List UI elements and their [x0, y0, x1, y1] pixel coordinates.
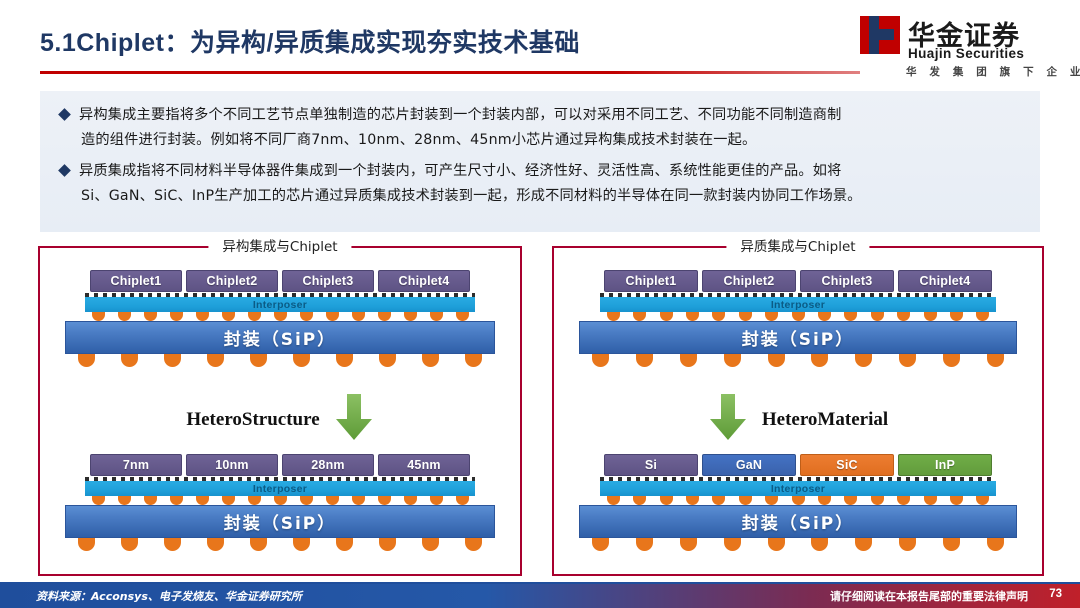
- solder-ball-icon: [768, 354, 785, 367]
- sip-package-block: 封装（SiP）: [65, 321, 495, 354]
- solder-ball-icon: [144, 496, 157, 505]
- solder-ball-icon: [660, 312, 673, 321]
- interposer-layer: Interposer: [85, 297, 475, 312]
- solder-ball-icon: [855, 538, 872, 551]
- solder-ball-icon: [456, 312, 469, 321]
- bullet-line: 造的组件进行封装。例如将不同厂商7nm、10nm、28nm、45nm小芯片通过异…: [79, 128, 842, 153]
- slide: 5.1Chiplet：为异构/异质集成实现夯实技术基础 华金证券 Huajin …: [0, 0, 1080, 608]
- chip-block[interactable]: 7nm: [90, 454, 182, 476]
- solder-ball-icon: [943, 354, 960, 367]
- bullet-item: 异构集成主要指将多个不同工艺节点单独制造的芯片封装到一个封装内部，可以对采用不同…: [54, 103, 1026, 153]
- solder-ball-icon: [818, 496, 831, 505]
- solder-ball-icon: [92, 312, 105, 321]
- solder-ball-icon: [326, 496, 339, 505]
- chip-row: Chiplet1Chiplet2Chiplet3Chiplet4: [554, 270, 1042, 292]
- sip-package-block: 封装（SiP）: [579, 321, 1017, 354]
- solder-ball-icon: [592, 354, 609, 367]
- chip-block[interactable]: InP: [898, 454, 992, 476]
- solder-ball-icon: [633, 496, 646, 505]
- solder-ball-icon: [248, 312, 261, 321]
- solder-ball-icon: [465, 354, 482, 367]
- chip-block[interactable]: 10nm: [186, 454, 278, 476]
- solder-ball-icon: [274, 496, 287, 505]
- chip-block[interactable]: 28nm: [282, 454, 374, 476]
- solder-ball-icon: [378, 496, 391, 505]
- diamond-bullet-icon: [58, 108, 71, 121]
- solder-ball-icon: [987, 354, 1004, 367]
- solder-ball-icon: [950, 312, 963, 321]
- solder-ball-icon: [987, 538, 1004, 551]
- logo-name-en: Huajin Securities: [908, 46, 1024, 61]
- solder-ball-icon: [379, 538, 396, 551]
- solder-ball-row: [85, 496, 475, 505]
- diagram-stack-top: Chiplet1Chiplet2Chiplet3Chiplet4Interpos…: [554, 270, 1042, 367]
- solder-ball-icon: [897, 312, 910, 321]
- solder-ball-icon: [121, 354, 138, 367]
- bullet-text: 异构集成主要指将多个不同工艺节点单独制造的芯片封装到一个封装内部，可以对采用不同…: [79, 103, 842, 153]
- solder-ball-icon: [250, 538, 267, 551]
- bullet-item: 异质集成指将不同材料半导体器件集成到一个封装内，可产生尺寸小、经济性好、灵活性高…: [54, 159, 1026, 209]
- solder-ball-row: [579, 538, 1017, 551]
- solder-ball-icon: [378, 312, 391, 321]
- solder-ball-icon: [404, 496, 417, 505]
- solder-ball-icon: [636, 354, 653, 367]
- solder-ball-icon: [739, 496, 752, 505]
- solder-ball-icon: [456, 496, 469, 505]
- chip-row: Chiplet1Chiplet2Chiplet3Chiplet4: [40, 270, 520, 292]
- solder-ball-icon: [248, 496, 261, 505]
- arrow-down-icon: [334, 392, 374, 447]
- chip-block[interactable]: Chiplet2: [186, 270, 278, 292]
- solder-ball-icon: [607, 312, 620, 321]
- solder-ball-icon: [170, 312, 183, 321]
- solder-ball-icon: [164, 538, 181, 551]
- solder-ball-icon: [607, 496, 620, 505]
- solder-ball-row: [600, 496, 996, 505]
- solder-ball-icon: [92, 496, 105, 505]
- solder-ball-icon: [924, 496, 937, 505]
- chip-block[interactable]: Chiplet3: [800, 270, 894, 292]
- chip-row: SiGaNSiCInP: [554, 454, 1042, 476]
- footer-notice: 请仔细阅读在本报告尾部的重要法律声明: [830, 588, 1028, 604]
- chip-block[interactable]: SiC: [800, 454, 894, 476]
- chip-block[interactable]: Chiplet4: [378, 270, 470, 292]
- footer-bar: 资料来源：Acconsys、电子发烧友、华金证券研究所 请仔细阅读在本报告尾部的…: [0, 584, 1080, 608]
- chip-block[interactable]: 45nm: [378, 454, 470, 476]
- solder-ball-icon: [422, 538, 439, 551]
- solder-ball-icon: [686, 312, 699, 321]
- solder-ball-icon: [897, 496, 910, 505]
- solder-ball-icon: [326, 312, 339, 321]
- transition-label: HeteroStructure: [186, 409, 319, 431]
- solder-ball-icon: [765, 312, 778, 321]
- solder-ball-icon: [592, 538, 609, 551]
- solder-ball-icon: [633, 312, 646, 321]
- solder-ball-icon: [78, 538, 95, 551]
- bullet-text: 异质集成指将不同材料半导体器件集成到一个封装内，可产生尺寸小、经济性好、灵活性高…: [79, 159, 862, 209]
- solder-ball-icon: [207, 538, 224, 551]
- solder-ball-icon: [250, 354, 267, 367]
- solder-ball-icon: [196, 312, 209, 321]
- solder-ball-icon: [943, 538, 960, 551]
- solder-ball-icon: [680, 354, 697, 367]
- solder-ball-icon: [712, 496, 725, 505]
- solder-ball-row: [65, 538, 495, 551]
- solder-ball-icon: [871, 312, 884, 321]
- solder-ball-icon: [121, 538, 138, 551]
- bullet-line: Si、GaN、SiC、InP生产加工的芯片通过异质集成技术封装到一起，形成不同材…: [79, 184, 862, 209]
- transition-row: HeteroStructure: [40, 392, 520, 447]
- solder-ball-icon: [336, 538, 353, 551]
- page-title: 5.1Chiplet：为异构/异质集成实现夯实技术基础: [40, 23, 580, 59]
- solder-ball-icon: [379, 354, 396, 367]
- diagram-stack-bottom: SiGaNSiCInPInterposer封装（SiP）: [554, 454, 1042, 551]
- solder-ball-icon: [352, 312, 365, 321]
- solder-ball-row: [85, 312, 475, 321]
- solder-ball-icon: [300, 496, 313, 505]
- bullet-line: 异构集成主要指将多个不同工艺节点单独制造的芯片封装到一个封装内部，可以对采用不同…: [79, 103, 842, 128]
- footer-source: 资料来源：Acconsys、电子发烧友、华金证券研究所: [36, 588, 302, 604]
- interposer-layer: Interposer: [600, 481, 996, 496]
- solder-ball-icon: [844, 496, 857, 505]
- chip-block[interactable]: Chiplet1: [604, 270, 698, 292]
- solder-ball-icon: [792, 312, 805, 321]
- bullet-panel: 异构集成主要指将多个不同工艺节点单独制造的芯片封装到一个封装内部，可以对采用不同…: [40, 91, 1040, 232]
- chip-block[interactable]: Chiplet4: [898, 270, 992, 292]
- interposer-layer: Interposer: [85, 481, 475, 496]
- bullet-line: 异质集成指将不同材料半导体器件集成到一个封装内，可产生尺寸小、经济性好、灵活性高…: [79, 159, 862, 184]
- arrow-down-icon: [708, 392, 748, 447]
- chip-block[interactable]: Si: [604, 454, 698, 476]
- chip-row: 7nm10nm28nm45nm: [40, 454, 520, 476]
- solder-ball-icon: [352, 496, 365, 505]
- solder-ball-icon: [811, 354, 828, 367]
- solder-ball-row: [65, 354, 495, 367]
- solder-ball-icon: [78, 354, 95, 367]
- solder-ball-icon: [196, 496, 209, 505]
- solder-ball-icon: [293, 354, 310, 367]
- solder-ball-icon: [636, 538, 653, 551]
- diagram-panel-heterostructure: 异构集成与Chiplet Chiplet1Chiplet2Chiplet3Chi…: [38, 246, 522, 576]
- solder-ball-icon: [739, 312, 752, 321]
- solder-ball-icon: [660, 496, 673, 505]
- diagram-stack-top: Chiplet1Chiplet2Chiplet3Chiplet4Interpos…: [40, 270, 520, 367]
- solder-ball-icon: [712, 312, 725, 321]
- transition-row: HeteroMaterial: [554, 392, 1042, 447]
- company-logo: 华金证券 Huajin Securities 华 发 集 团 旗 下 企 业: [860, 14, 1056, 78]
- chip-block[interactable]: Chiplet2: [702, 270, 796, 292]
- solder-ball-icon: [818, 312, 831, 321]
- solder-ball-icon: [855, 354, 872, 367]
- solder-ball-icon: [680, 538, 697, 551]
- logo-subtitle: 华 发 集 团 旗 下 企 业: [906, 64, 1080, 79]
- solder-ball-icon: [336, 354, 353, 367]
- solder-ball-row: [579, 354, 1017, 367]
- panel-caption: 异质集成与Chiplet: [726, 235, 869, 255]
- sip-package-block: 封装（SiP）: [579, 505, 1017, 538]
- chip-block[interactable]: GaN: [702, 454, 796, 476]
- solder-ball-icon: [430, 496, 443, 505]
- solder-ball-icon: [293, 538, 310, 551]
- page-number: 73: [1049, 588, 1062, 600]
- solder-ball-icon: [899, 354, 916, 367]
- solder-ball-icon: [871, 496, 884, 505]
- solder-ball-icon: [765, 496, 778, 505]
- title-underline: [40, 71, 860, 74]
- solder-ball-icon: [811, 538, 828, 551]
- solder-ball-icon: [768, 538, 785, 551]
- solder-ball-row: [600, 312, 996, 321]
- solder-ball-icon: [976, 312, 989, 321]
- diagram-stack-bottom: 7nm10nm28nm45nmInterposer封装（SiP）: [40, 454, 520, 551]
- sip-package-block: 封装（SiP）: [65, 505, 495, 538]
- solder-ball-icon: [724, 354, 741, 367]
- solder-ball-icon: [404, 312, 417, 321]
- solder-ball-icon: [164, 354, 181, 367]
- solder-ball-icon: [118, 312, 131, 321]
- solder-ball-icon: [222, 496, 235, 505]
- solder-ball-icon: [207, 354, 224, 367]
- solder-ball-icon: [465, 538, 482, 551]
- transition-label: HeteroMaterial: [762, 409, 888, 431]
- solder-ball-icon: [430, 312, 443, 321]
- solder-ball-icon: [686, 496, 699, 505]
- solder-ball-icon: [844, 312, 857, 321]
- solder-ball-icon: [792, 496, 805, 505]
- panel-caption: 异构集成与Chiplet: [208, 235, 351, 255]
- interposer-layer: Interposer: [600, 297, 996, 312]
- solder-ball-icon: [422, 354, 439, 367]
- solder-ball-icon: [924, 312, 937, 321]
- chip-block[interactable]: Chiplet1: [90, 270, 182, 292]
- solder-ball-icon: [899, 538, 916, 551]
- chip-block[interactable]: Chiplet3: [282, 270, 374, 292]
- logo-mark-icon: [860, 16, 900, 54]
- solder-ball-icon: [118, 496, 131, 505]
- solder-ball-icon: [976, 496, 989, 505]
- solder-ball-icon: [170, 496, 183, 505]
- diamond-bullet-icon: [58, 164, 71, 177]
- diagram-panel-heteromaterial: 异质集成与Chiplet Chiplet1Chiplet2Chiplet3Chi…: [552, 246, 1044, 576]
- solder-ball-icon: [274, 312, 287, 321]
- solder-ball-icon: [724, 538, 741, 551]
- solder-ball-icon: [222, 312, 235, 321]
- solder-ball-icon: [144, 312, 157, 321]
- solder-ball-icon: [300, 312, 313, 321]
- solder-ball-icon: [950, 496, 963, 505]
